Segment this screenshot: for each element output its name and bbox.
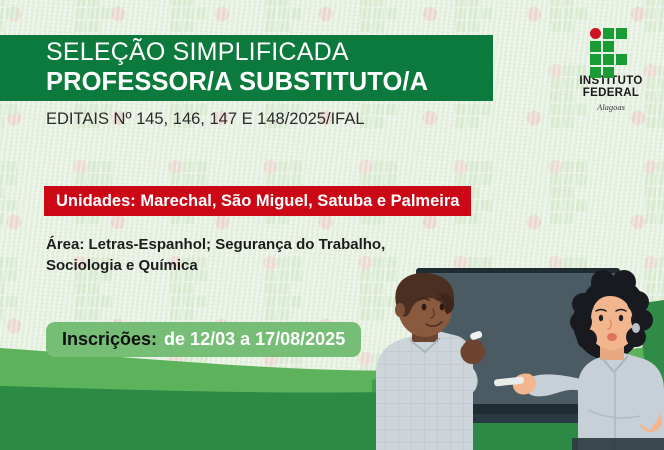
poster: SELEÇÃO SIMPLIFICADA PROFESSOR/A SUBSTIT…: [0, 0, 664, 450]
logo-red-dot: [590, 28, 601, 39]
right-person-curl-3: [577, 329, 597, 349]
inscricoes-dates: de 12/03 a 17/08/2025: [164, 329, 345, 350]
logo-square: [603, 41, 614, 52]
logo-square: [590, 41, 601, 52]
right-person-eye-1: [599, 315, 603, 321]
logo-square: [603, 67, 614, 78]
right-person-curl-8: [612, 270, 636, 294]
right-person-eye-2: [619, 315, 623, 321]
if-logo-mark-icon: [590, 28, 632, 72]
area-text-line2: Sociologia e Química: [46, 256, 466, 277]
logo-square: [603, 28, 614, 39]
right-person-curl-7: [591, 270, 615, 294]
page-title-line2: PROFESSOR/A SUBSTITUTO/A: [46, 68, 428, 97]
logo-square: [616, 28, 627, 39]
logo-text-alagoas: Alagoas: [566, 102, 656, 112]
institution-logo: INSTITUTO FEDERAL Alagoas: [566, 28, 656, 112]
right-person-earring: [632, 323, 640, 333]
area-text: Área: Letras-Espanhol; Segurança do Trab…: [46, 235, 466, 276]
inscricoes-label: Inscrições:: [62, 329, 157, 350]
inscricoes-pill: Inscrições: de 12/03 a 17/08/2025: [46, 322, 361, 357]
logo-text-federal: FEDERAL: [566, 88, 656, 100]
editais-reference: EDITAIS Nº 145, 146, 147 E 148/2025/IFAL: [46, 110, 365, 129]
illustration-base-shadow: [572, 438, 664, 450]
logo-square: [590, 67, 601, 78]
left-person-eye-2: [440, 304, 445, 311]
logo-square: [616, 54, 627, 65]
area-text-line1: Área: Letras-Espanhol; Segurança do Trab…: [46, 235, 466, 256]
right-person-mouth: [607, 333, 617, 341]
page-title-line1: SELEÇÃO SIMPLIFICADA: [46, 38, 349, 67]
units-banner: Unidades: Marechal, São Miguel, Satuba e…: [44, 186, 471, 216]
left-person-eye-1: [422, 304, 427, 311]
logo-square: [603, 54, 614, 65]
units-banner-text: Unidades: Marechal, São Miguel, Satuba e…: [56, 192, 459, 211]
right-person-torso: [578, 353, 664, 450]
left-person-ear: [395, 303, 405, 317]
logo-square: [590, 54, 601, 65]
illustration-two-teachers-at-chalkboard: [372, 260, 664, 450]
